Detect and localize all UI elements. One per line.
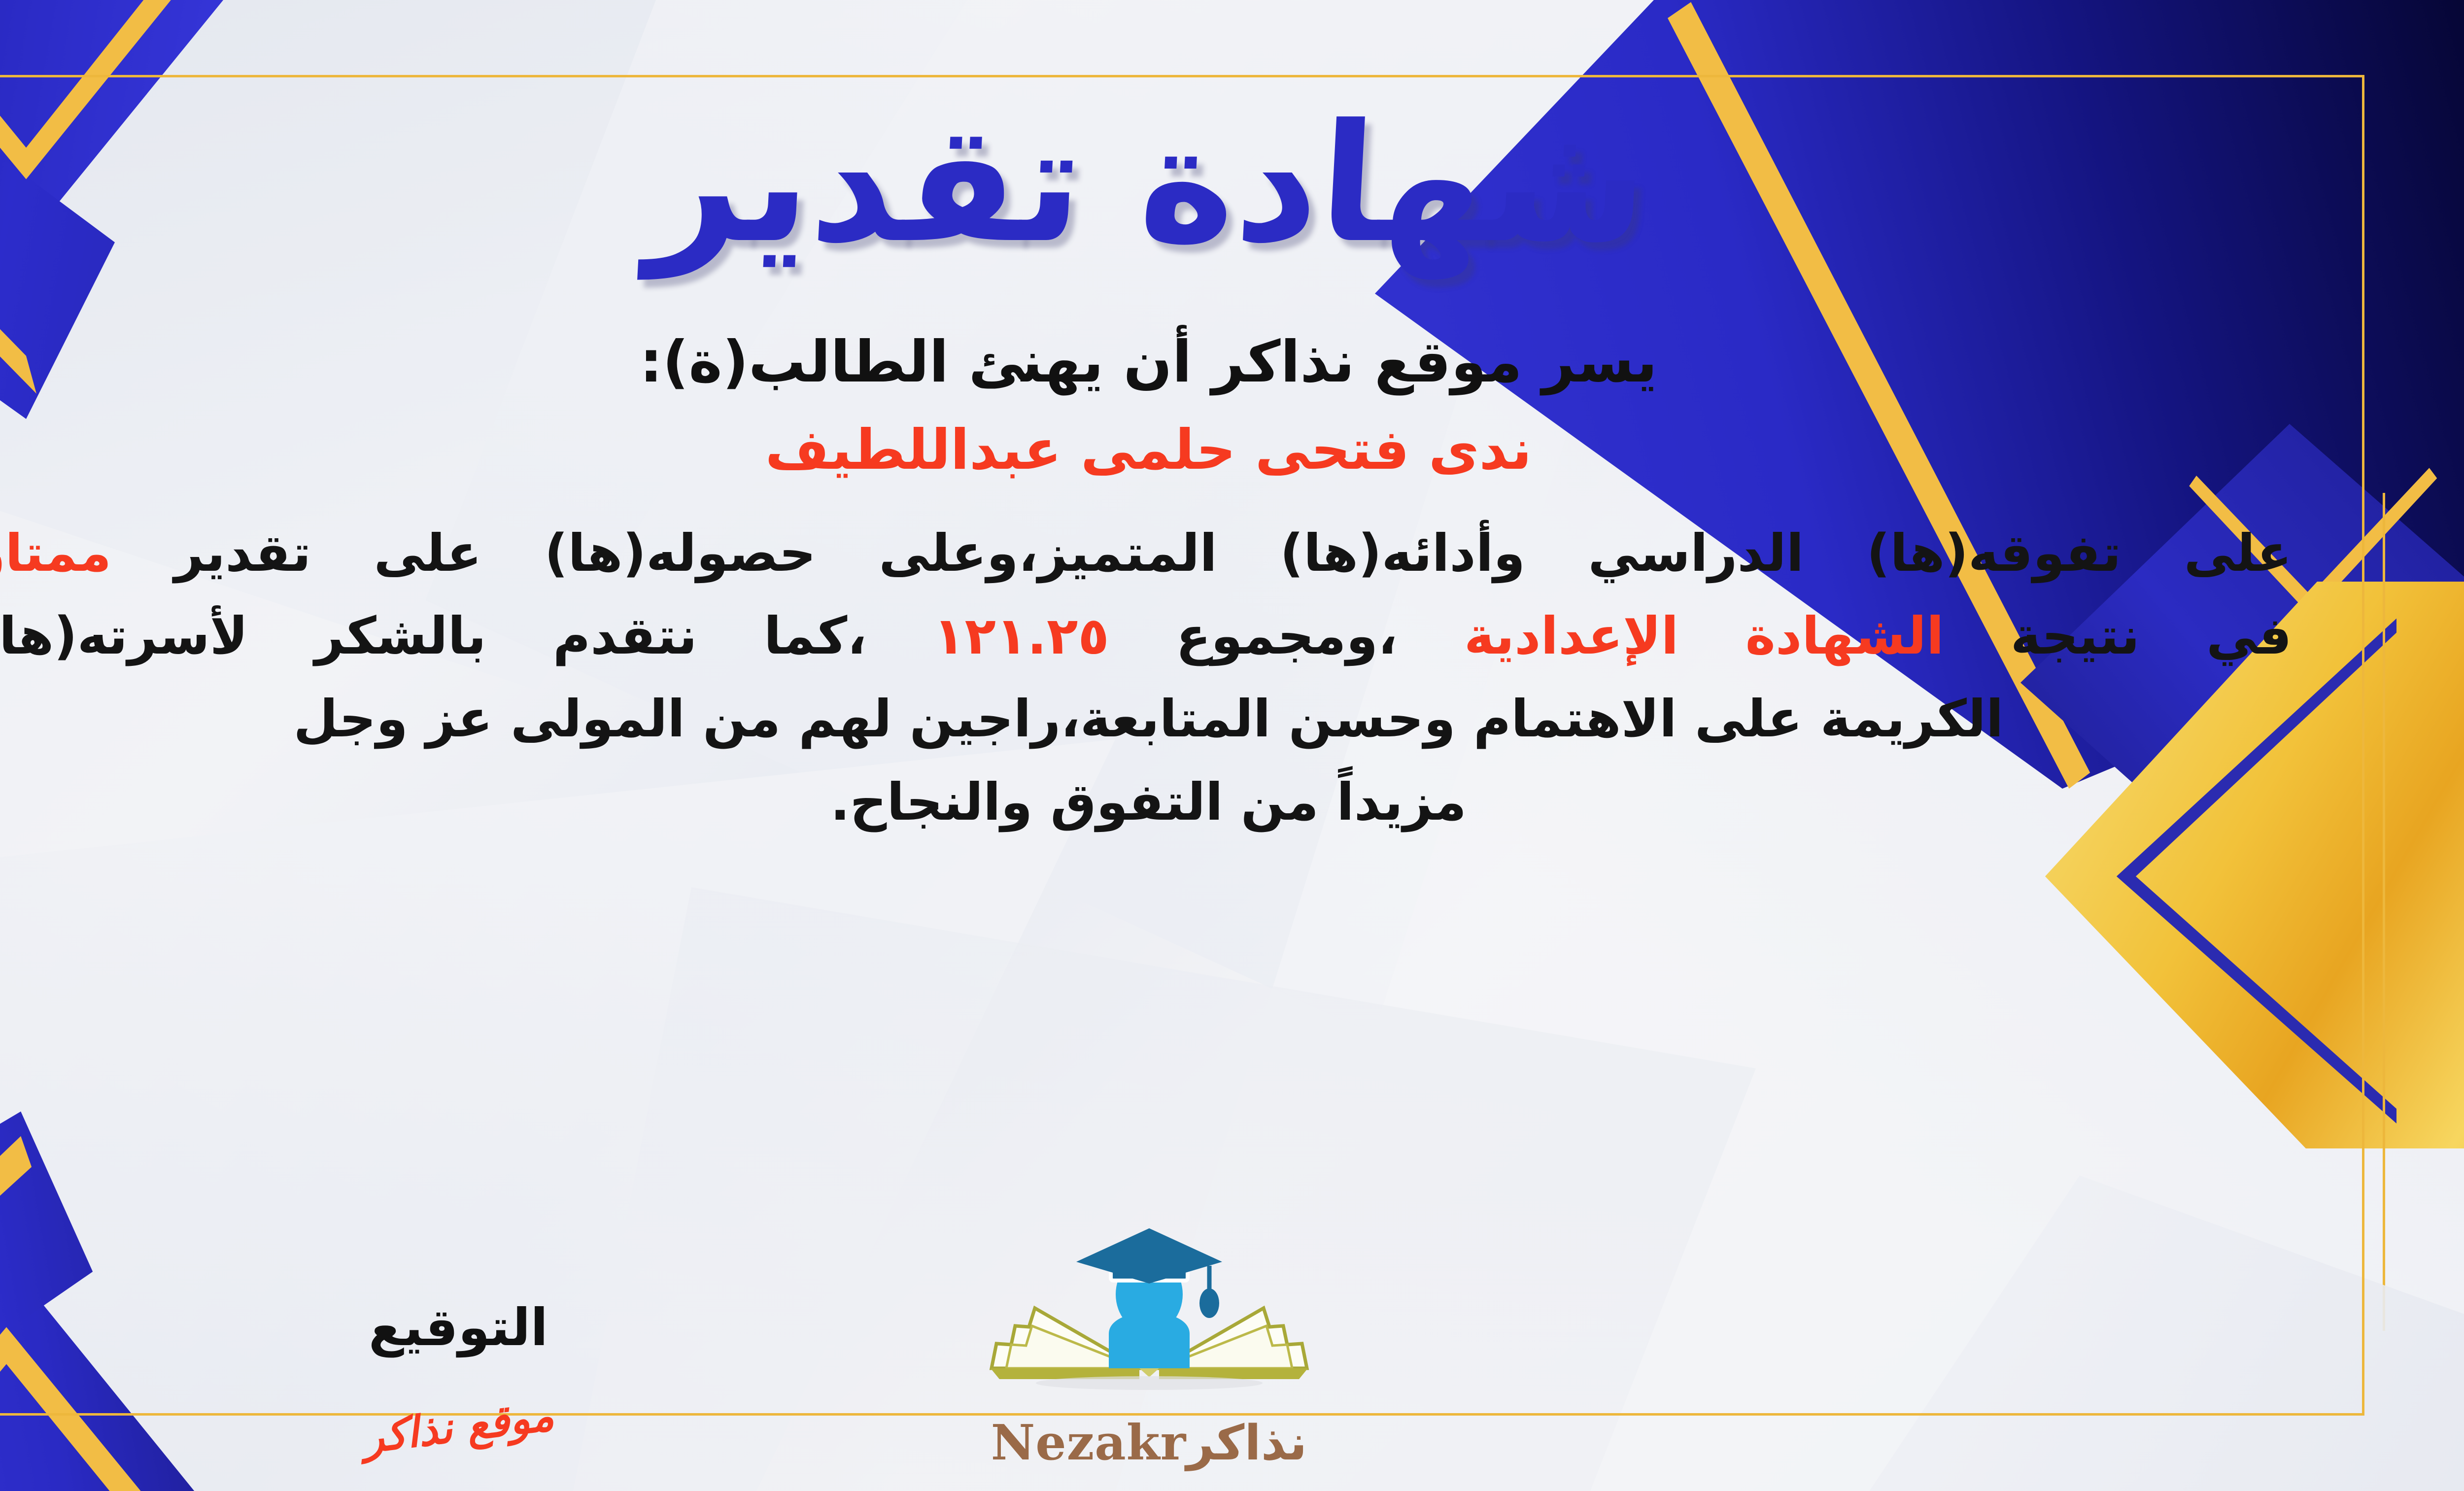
logo-name-en: Nezakr [991, 1415, 1187, 1471]
body-line-2-mid: ،ومجموع [1176, 606, 1397, 666]
signature-label: التوقيع [306, 1297, 611, 1357]
page-title: شهادة تقدير [645, 99, 1652, 270]
student-name: ندى فتحى حلمى عبداللطيف [765, 418, 1532, 482]
signature-script: موقع نذاكر [304, 1384, 613, 1470]
body-line-1: على تفوقه(ها) الدراسي وأدائه(ها) المتميز… [0, 512, 2307, 594]
body-line-2: في نتيجة الشهادة الإعدادية ،ومجموع ١٢١.٢… [0, 594, 2307, 677]
body-line-3: الكريمة على الاهتمام وحسن المتابعة،راجين… [0, 677, 2307, 760]
exam-name: الشهادة الإعدادية [1464, 606, 1944, 666]
total-score: ١٢١.٢٥ [933, 606, 1109, 666]
certificate-body: على تفوقه(ها) الدراسي وأدائه(ها) المتميز… [0, 512, 2307, 844]
body-line-4: مزيداً من التفوق والنجاح. [0, 761, 2307, 843]
body-line-2-prefix: في نتيجة [2011, 606, 2292, 666]
intro-line: يسر موقع نذاكر أن يهنئ الطالب(ة): [640, 329, 1657, 395]
logo-name-ar: نذاكر [1186, 1415, 1307, 1471]
site-logo: نذاكرNezakr [952, 1220, 1346, 1471]
logo-wordmark: نذاكرNezakr [952, 1415, 1346, 1471]
graduate-book-icon [977, 1220, 1322, 1418]
certificate-footer: التوقيع موقع نذاكر [0, 1131, 2464, 1486]
grade-value: ممتاز [0, 523, 111, 583]
signature-block: التوقيع موقع نذاكر [306, 1297, 611, 1452]
body-line-2-suffix: ،كما نتقدم بالشكر لأسرته(ها) [0, 606, 867, 666]
certificate-page: شهادة تقدير يسر موقع نذاكر أن يهنئ الطال… [0, 0, 2464, 1491]
body-line-1-text: على تفوقه(ها) الدراسي وأدائه(ها) المتميز… [174, 523, 2292, 583]
